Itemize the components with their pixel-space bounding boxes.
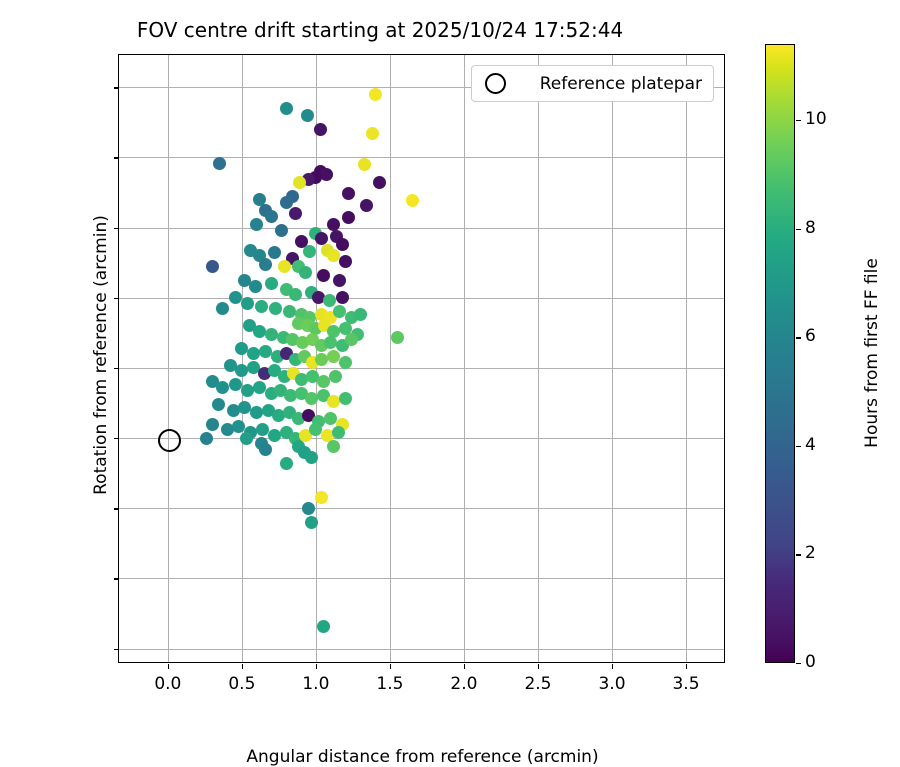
y-tick [114,368,119,369]
scatter-point [305,451,318,464]
x-tick [390,664,391,669]
scatter-point [323,294,336,307]
scatter-point [314,123,327,136]
y-tick [114,578,119,579]
scatter-point [301,109,314,122]
colorbar-tick-label: 6 [805,326,816,346]
x-tick-label: 0.0 [138,674,198,694]
scatter-point [339,356,352,369]
y-tick [114,438,119,439]
reference-platepar-marker [158,429,181,452]
colorbar-tick [796,120,801,121]
chart-title: FOV centre drift starting at 2025/10/24 … [0,18,760,42]
scatter-point [216,381,229,394]
legend[interactable]: Reference platepar [471,65,714,102]
scatter-point [345,333,358,346]
y-tick [114,508,119,509]
y-axis-label: Rotation from reference (arcmin) [91,215,111,495]
scatter-point [305,516,318,529]
x-tick-label: 2.5 [508,674,568,694]
scatter-point [354,308,367,321]
scatter-point [303,245,316,258]
scatter-point [268,246,281,259]
scatter-point [289,288,302,301]
scatter-point [250,218,263,231]
colorbar-tick-label: 2 [805,543,816,563]
scatter-point [327,440,340,453]
scatter-point [265,277,278,290]
scatter-point [280,457,293,470]
scatter-point [305,392,318,405]
x-tick-label: 1.0 [286,674,346,694]
y-tick [114,87,119,88]
scatter-point [216,302,229,315]
scatter-point [280,102,293,115]
x-tick-label: 1.5 [360,674,420,694]
x-tick-label: 3.5 [656,674,716,694]
x-axis-label: Angular distance from reference (arcmin) [119,747,726,767]
scatter-point [283,305,296,318]
scatter-point [317,620,330,633]
scatter-point [333,274,346,287]
x-tick [316,664,317,669]
scatter-point [358,158,371,171]
colorbar-tick-label: 4 [805,435,816,455]
scatter-point [369,88,382,101]
scatter-point [406,194,419,207]
colorbar [765,44,795,663]
scatter-point [206,418,219,431]
scatter-point [269,302,282,315]
x-tick [612,664,613,669]
colorbar-tick-label: 10 [805,109,827,129]
y-tick [114,298,119,299]
x-tick [242,664,243,669]
scatter-point [342,187,355,200]
scatter-point [255,300,268,313]
scatter-point [206,260,219,273]
colorbar-label: Hours from first FF file [862,258,882,448]
x-tick-label: 0.5 [212,674,272,694]
scatter-layer [119,55,724,662]
scatter-point [336,291,349,304]
scatter-point [278,260,291,273]
legend-label-reference-platepar: Reference platepar [540,74,702,94]
reference-platepar-marker-icon [485,73,506,94]
scatter-point [241,297,254,310]
scatter-point [317,375,330,388]
scatter-point [373,176,386,189]
scatter-point [336,238,349,251]
matplotlib-figure: FOV centre drift starting at 2025/10/24 … [0,0,900,750]
scatter-point [302,502,315,515]
scatter-point [213,157,226,170]
scatter-point [259,258,272,271]
scatter-point [289,207,302,220]
x-tick [168,664,169,669]
scatter-point [259,443,272,456]
scatter-point [329,370,342,383]
x-tick-label: 3.0 [582,674,642,694]
x-tick [464,664,465,669]
scatter-point [240,432,253,445]
x-tick [538,664,539,669]
scatter-point [342,211,355,224]
y-tick [114,228,119,229]
scatter-point [315,491,328,504]
x-tick-label: 2.0 [434,674,494,694]
colorbar-tick [796,229,801,230]
scatter-point [299,266,312,279]
colorbar-tick [796,446,801,447]
scatter-point [391,331,404,344]
scatter-point [339,392,352,405]
scatter-point [360,199,373,212]
scatter-point [332,426,345,439]
colorbar-tick-label: 8 [805,218,816,238]
scatter-point [339,255,352,268]
plot-axes: −1.5−1.0−0.50.00.51.01.52.02.5 0.00.51.0… [118,54,725,663]
colorbar-tick [796,554,801,555]
scatter-point [366,127,379,140]
scatter-point [265,328,278,341]
scatter-point [212,398,225,411]
scatter-point [275,224,288,237]
y-tick [114,157,119,158]
scatter-point [249,280,262,293]
scatter-point [280,196,293,209]
scatter-point [268,429,281,442]
colorbar-tick-label: 0 [805,652,816,672]
colorbar-tick [796,337,801,338]
scatter-point [293,176,306,189]
scatter-point [265,210,278,223]
scatter-point [200,432,213,445]
scatter-point [317,269,330,282]
colorbar-tick [796,663,801,664]
x-tick [686,664,687,669]
y-tick [114,649,119,650]
